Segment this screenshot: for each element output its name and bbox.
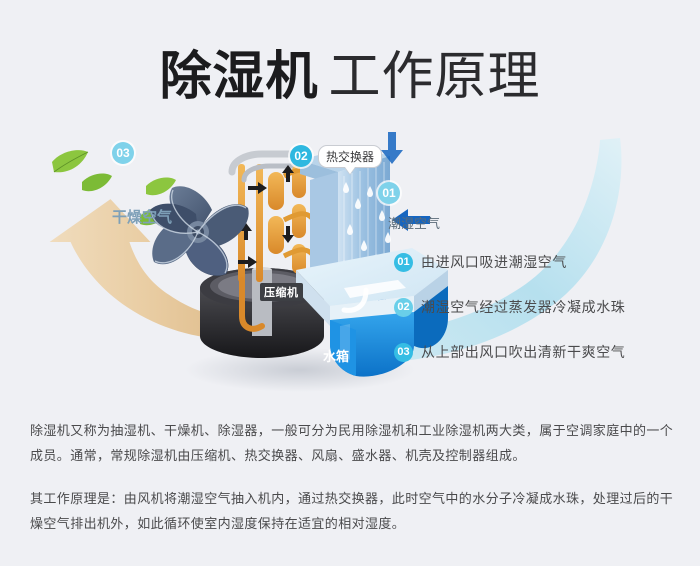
marker-01: 01 xyxy=(378,182,400,204)
step-number-02: 02 xyxy=(394,298,413,317)
heat-exchanger-callout: 热交换器 xyxy=(318,145,382,168)
paragraph-2: 其工作原理是：由风机将潮湿空气抽入机内，通过热交换器，此时空气中的水分子冷凝成水… xyxy=(30,486,675,536)
steps-list: 01 由进风口吸进潮湿空气 02 潮湿空气经过蒸发器冷凝成水珠 03 从上部出风… xyxy=(394,252,694,387)
step-item-02: 02 潮湿空气经过蒸发器冷凝成水珠 xyxy=(394,297,694,317)
infographic-page: 除湿机工作原理 xyxy=(0,0,700,566)
page-title-secondary: 工作原理 xyxy=(329,48,541,106)
page-title: 除湿机工作原理 xyxy=(0,34,700,109)
water-tank-label: 水箱 xyxy=(323,346,349,365)
humid-air-label: 潮湿空气 xyxy=(388,213,440,232)
step-text-02: 潮湿空气经过蒸发器冷凝成水珠 xyxy=(421,297,625,317)
marker-02: 02 xyxy=(290,145,312,167)
paragraph-1: 除湿机又称为抽湿机、干燥机、除湿器，一般可分为民用除湿机和工业除湿机两大类，属于… xyxy=(30,418,675,468)
step-text-01: 由进风口吸进潮湿空气 xyxy=(421,252,567,272)
step-item-01: 01 由进风口吸进潮湿空气 xyxy=(394,252,694,272)
step-number-01: 01 xyxy=(394,253,413,272)
fan-icon xyxy=(150,186,249,275)
page-title-primary: 除湿机 xyxy=(159,48,318,106)
step-item-03: 03 从上部出风口吹出清新干爽空气 xyxy=(394,342,694,362)
marker-03: 03 xyxy=(112,142,134,164)
step-number-03: 03 xyxy=(394,343,413,362)
dry-air-label: 干燥空气 xyxy=(112,206,172,227)
description-block: 除湿机又称为抽湿机、干燥机、除湿器，一般可分为民用除湿机和工业除湿机两大类，属于… xyxy=(30,418,675,554)
compressor-label: 压缩机 xyxy=(260,283,303,301)
step-text-03: 从上部出风口吹出清新干爽空气 xyxy=(421,342,625,362)
